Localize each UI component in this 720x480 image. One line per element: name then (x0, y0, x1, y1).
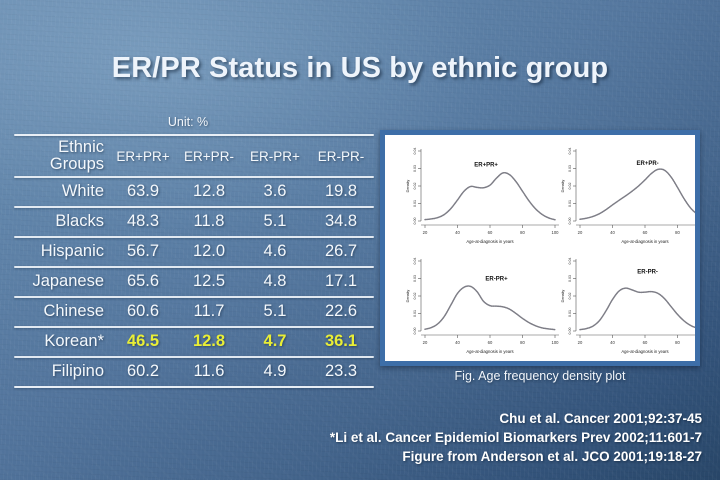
svg-text:60: 60 (488, 230, 493, 235)
svg-text:60: 60 (488, 340, 493, 345)
svg-text:0.00: 0.00 (568, 218, 572, 225)
svg-text:0.04: 0.04 (413, 258, 417, 265)
svg-text:40: 40 (610, 230, 615, 235)
svg-text:0.02: 0.02 (413, 183, 417, 190)
svg-text:0.04: 0.04 (568, 258, 572, 265)
citation-line-3: Figure from Anderson et al. JCO 2001;19:… (330, 447, 702, 466)
svg-text:Age-at-diagnosis in years: Age-at-diagnosis in years (466, 349, 513, 354)
cell-er-pr-np: 4.9 (242, 362, 308, 381)
header-er-pr-pn: ER+PR- (176, 149, 242, 164)
citation-line-1: Chu et al. Cancer 2001;92:37-45 (330, 409, 702, 428)
svg-text:100: 100 (552, 340, 560, 345)
table-top-rule (14, 134, 374, 136)
svg-text:40: 40 (610, 340, 615, 345)
svg-text:ER+PR+: ER+PR+ (474, 162, 498, 168)
svg-text:60: 60 (643, 230, 648, 235)
row-group-label: Filipino (14, 362, 110, 381)
ethnic-status-table: Ethnic Groups ER+PR+ ER+PR- ER-PR+ ER-PR… (14, 134, 374, 388)
row-group-label: White (14, 182, 110, 201)
density-panel-0: 0.000.010.020.030.04Density20406080100Ag… (406, 148, 559, 245)
cell-er-pr-pn: 12.8 (176, 332, 242, 351)
svg-text:Age-at-diagnosis in years: Age-at-diagnosis in years (621, 239, 668, 244)
cell-er-pr-pp: 48.3 (110, 212, 176, 231)
svg-text:80: 80 (675, 340, 680, 345)
table-row-rule (14, 266, 374, 268)
svg-text:ER-PR+: ER-PR+ (485, 277, 508, 283)
row-group-label: Hispanic (14, 242, 110, 261)
svg-text:0.02: 0.02 (568, 183, 572, 190)
citation-block: Chu et al. Cancer 2001;92:37-45 *Li et a… (330, 409, 702, 466)
table-header-row: Ethnic Groups ER+PR+ ER+PR- ER-PR+ ER-PR… (14, 136, 374, 176)
svg-text:0.02: 0.02 (413, 293, 417, 300)
row-group-label: Blacks (14, 212, 110, 231)
header-ethnic-groups-line2: Groups (14, 156, 104, 173)
svg-text:ER+PR-: ER+PR- (637, 161, 659, 167)
cell-er-pr-pn: 11.8 (176, 212, 242, 231)
cell-er-pr-nn: 36.1 (308, 332, 374, 351)
svg-text:0.00: 0.00 (568, 328, 572, 335)
svg-text:0.01: 0.01 (413, 310, 417, 317)
table-row: Blacks 48.3 11.8 5.1 34.8 (14, 208, 374, 237)
svg-text:Density: Density (406, 180, 410, 193)
header-er-pr-nn: ER-PR- (308, 149, 374, 164)
density-panel-3: 0.000.010.020.030.04Density20406080100Ag… (561, 258, 695, 355)
svg-text:0.01: 0.01 (568, 310, 572, 317)
density-figure-panel: 0.000.010.020.030.04Density20406080100Ag… (380, 130, 700, 366)
cell-er-pr-nn: 23.3 (308, 362, 374, 381)
table-row-rule (14, 206, 374, 208)
table-row: Hispanic 56.7 12.0 4.6 26.7 (14, 238, 374, 267)
svg-text:Age-at-diagnosis in years: Age-at-diagnosis in years (466, 239, 513, 244)
cell-er-pr-nn: 34.8 (308, 212, 374, 231)
svg-text:0.00: 0.00 (413, 328, 417, 335)
svg-text:40: 40 (455, 230, 460, 235)
citation-line-2: *Li et al. Cancer Epidemiol Biomarkers P… (330, 428, 702, 447)
svg-text:Age-at-diagnosis in years: Age-at-diagnosis in years (621, 349, 668, 354)
row-group-label: Chinese (14, 302, 110, 321)
cell-er-pr-nn: 22.6 (308, 302, 374, 321)
cell-er-pr-pp: 60.6 (110, 302, 176, 321)
cell-er-pr-pp: 56.7 (110, 242, 176, 261)
cell-er-pr-pn: 12.5 (176, 272, 242, 291)
table-row-rule (14, 296, 374, 298)
page-title: ER/PR Status in US by ethnic group (0, 52, 720, 85)
row-group-label: Japanese (14, 272, 110, 291)
svg-text:80: 80 (520, 340, 525, 345)
header-ethnic-groups-line1: Ethnic (14, 139, 104, 156)
cell-er-pr-np: 3.6 (242, 182, 308, 201)
svg-text:Density: Density (561, 290, 565, 303)
cell-er-pr-pn: 12.0 (176, 242, 242, 261)
table-row-rule (14, 236, 374, 238)
svg-text:0.01: 0.01 (413, 200, 417, 207)
density-panel-1: 0.000.010.020.030.04Density20406080100Ag… (561, 148, 695, 245)
cell-er-pr-pp: 60.2 (110, 362, 176, 381)
svg-text:Density: Density (561, 180, 565, 193)
svg-text:Density: Density (406, 290, 410, 303)
table-bottom-rule (14, 386, 374, 388)
svg-text:80: 80 (675, 230, 680, 235)
table-row: Filipino 60.2 11.6 4.9 23.3 (14, 358, 374, 387)
density-figure-canvas: 0.000.010.020.030.04Density20406080100Ag… (385, 135, 695, 361)
figure-caption: Fig. Age frequency density plot (380, 369, 700, 383)
header-er-pr-np: ER-PR+ (242, 149, 308, 164)
svg-text:0.00: 0.00 (413, 218, 417, 225)
cell-er-pr-nn: 19.8 (308, 182, 374, 201)
svg-text:0.02: 0.02 (568, 293, 572, 300)
table-row: Chinese 60.6 11.7 5.1 22.6 (14, 298, 374, 327)
row-group-label: Korean* (14, 332, 110, 351)
table-header-rule (14, 176, 374, 178)
table-row: Japanese 65.6 12.5 4.8 17.1 (14, 268, 374, 297)
cell-er-pr-pp: 63.9 (110, 182, 176, 201)
slide-canvas: ER/PR Status in US by ethnic group Unit:… (0, 0, 720, 480)
svg-text:0.03: 0.03 (568, 275, 572, 282)
svg-text:ER-PR-: ER-PR- (637, 270, 658, 276)
cell-er-pr-pp: 46.5 (110, 332, 176, 351)
header-er-pr-pp: ER+PR+ (110, 149, 176, 164)
cell-er-pr-pn: 11.7 (176, 302, 242, 321)
cell-er-pr-pn: 11.6 (176, 362, 242, 381)
svg-text:0.04: 0.04 (568, 148, 572, 155)
svg-text:40: 40 (455, 340, 460, 345)
cell-er-pr-nn: 17.1 (308, 272, 374, 291)
cell-er-pr-pn: 12.8 (176, 182, 242, 201)
svg-text:80: 80 (520, 230, 525, 235)
cell-er-pr-np: 4.6 (242, 242, 308, 261)
svg-text:0.03: 0.03 (568, 165, 572, 172)
cell-er-pr-np: 5.1 (242, 212, 308, 231)
svg-text:20: 20 (423, 230, 428, 235)
cell-er-pr-pp: 65.6 (110, 272, 176, 291)
density-plots-svg: 0.000.010.020.030.04Density20406080100Ag… (385, 135, 695, 361)
svg-text:0.04: 0.04 (413, 148, 417, 155)
table-row: White 63.9 12.8 3.6 19.8 (14, 178, 374, 207)
svg-text:20: 20 (423, 340, 428, 345)
unit-note: Unit: % (0, 115, 376, 129)
cell-er-pr-np: 4.7 (242, 332, 308, 351)
cell-er-pr-nn: 26.7 (308, 242, 374, 261)
svg-text:0.03: 0.03 (413, 275, 417, 282)
svg-text:20: 20 (578, 230, 583, 235)
svg-text:0.01: 0.01 (568, 200, 572, 207)
header-ethnic-groups: Ethnic Groups (14, 139, 110, 173)
svg-text:60: 60 (643, 340, 648, 345)
density-panel-2: 0.000.010.020.030.04Density20406080100Ag… (406, 258, 559, 355)
table-row-highlighted: Korean* 46.5 12.8 4.7 36.1 (14, 328, 374, 357)
table-row-rule (14, 356, 374, 358)
table-row-rule (14, 326, 374, 328)
cell-er-pr-np: 5.1 (242, 302, 308, 321)
svg-text:100: 100 (552, 230, 560, 235)
cell-er-pr-np: 4.8 (242, 272, 308, 291)
svg-text:0.03: 0.03 (413, 165, 417, 172)
svg-text:20: 20 (578, 340, 583, 345)
